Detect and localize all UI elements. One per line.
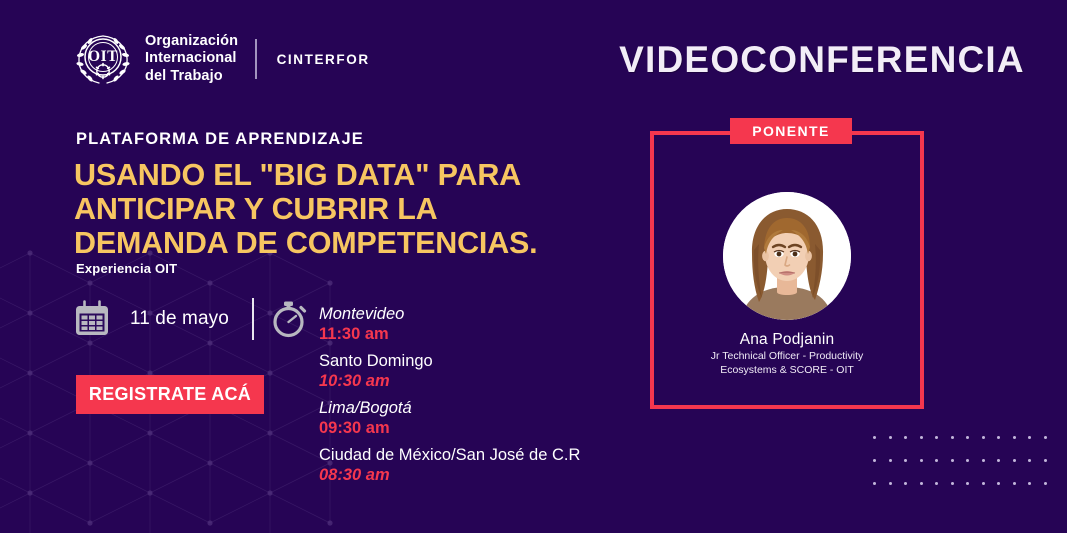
date-row: 11 de mayo xyxy=(72,298,254,340)
ilo-oit-emblem-icon: OIT xyxy=(72,30,134,88)
page-title: USANDO EL "BIG DATA" PARA ANTICIPAR Y CU… xyxy=(74,158,554,260)
event-date: 11 de mayo xyxy=(130,308,229,330)
subtitle-text: Experiencia OIT xyxy=(76,261,177,276)
stopwatch-icon xyxy=(266,296,311,341)
svg-text:OIT: OIT xyxy=(88,48,118,65)
register-button[interactable]: REGISTRATE ACÁ xyxy=(76,375,264,414)
logo-organization-name: Organización Internacional del Trabajo xyxy=(145,33,238,84)
dot-grid-decoration xyxy=(873,436,1059,505)
timezone-time: 10:30 am xyxy=(319,372,619,392)
timezone-item: Lima/Bogotá 09:30 am xyxy=(319,399,619,439)
avatar xyxy=(723,192,851,320)
timezone-item: Montevideo 11:30 am xyxy=(319,305,619,345)
timezone-city: Montevideo xyxy=(319,305,619,325)
videoconference-heading: VIDEOCONFERENCIA xyxy=(612,39,1032,81)
logo-lockup: OIT Organización Internacional del Traba… xyxy=(72,30,370,88)
speaker-portrait-illustration xyxy=(723,192,851,320)
timezone-time: 08:30 am xyxy=(319,466,619,486)
calendar-icon xyxy=(72,299,112,339)
kicker-text: PLATAFORMA DE APRENDIZAJE xyxy=(76,130,364,149)
timezone-city: Lima/Bogotá xyxy=(319,399,619,419)
speaker-name: Ana Podjanin xyxy=(650,331,924,349)
logo-brand-cinterfor: CINTERFOR xyxy=(277,52,370,67)
speaker-role: Jr Technical Officer - Productivity Ecos… xyxy=(650,349,924,377)
timezone-time: 11:30 am xyxy=(319,325,619,345)
poster-canvas: OIT Organización Internacional del Traba… xyxy=(0,0,1067,533)
timezone-city: Santo Domingo xyxy=(319,352,619,372)
logo-divider xyxy=(255,39,257,79)
clock-icon-wrap xyxy=(266,296,311,341)
timezone-item: Santo Domingo 10:30 am xyxy=(319,352,619,392)
timezone-item: Ciudad de México/San José de C.R 08:30 a… xyxy=(319,446,619,486)
timezone-city: Ciudad de México/San José de C.R xyxy=(319,446,619,466)
timezone-list: Montevideo 11:30 am Santo Domingo 10:30 … xyxy=(319,305,619,493)
timezone-time: 09:30 am xyxy=(319,419,619,439)
ponente-badge: PONENTE xyxy=(730,118,852,144)
vertical-divider xyxy=(252,298,254,340)
